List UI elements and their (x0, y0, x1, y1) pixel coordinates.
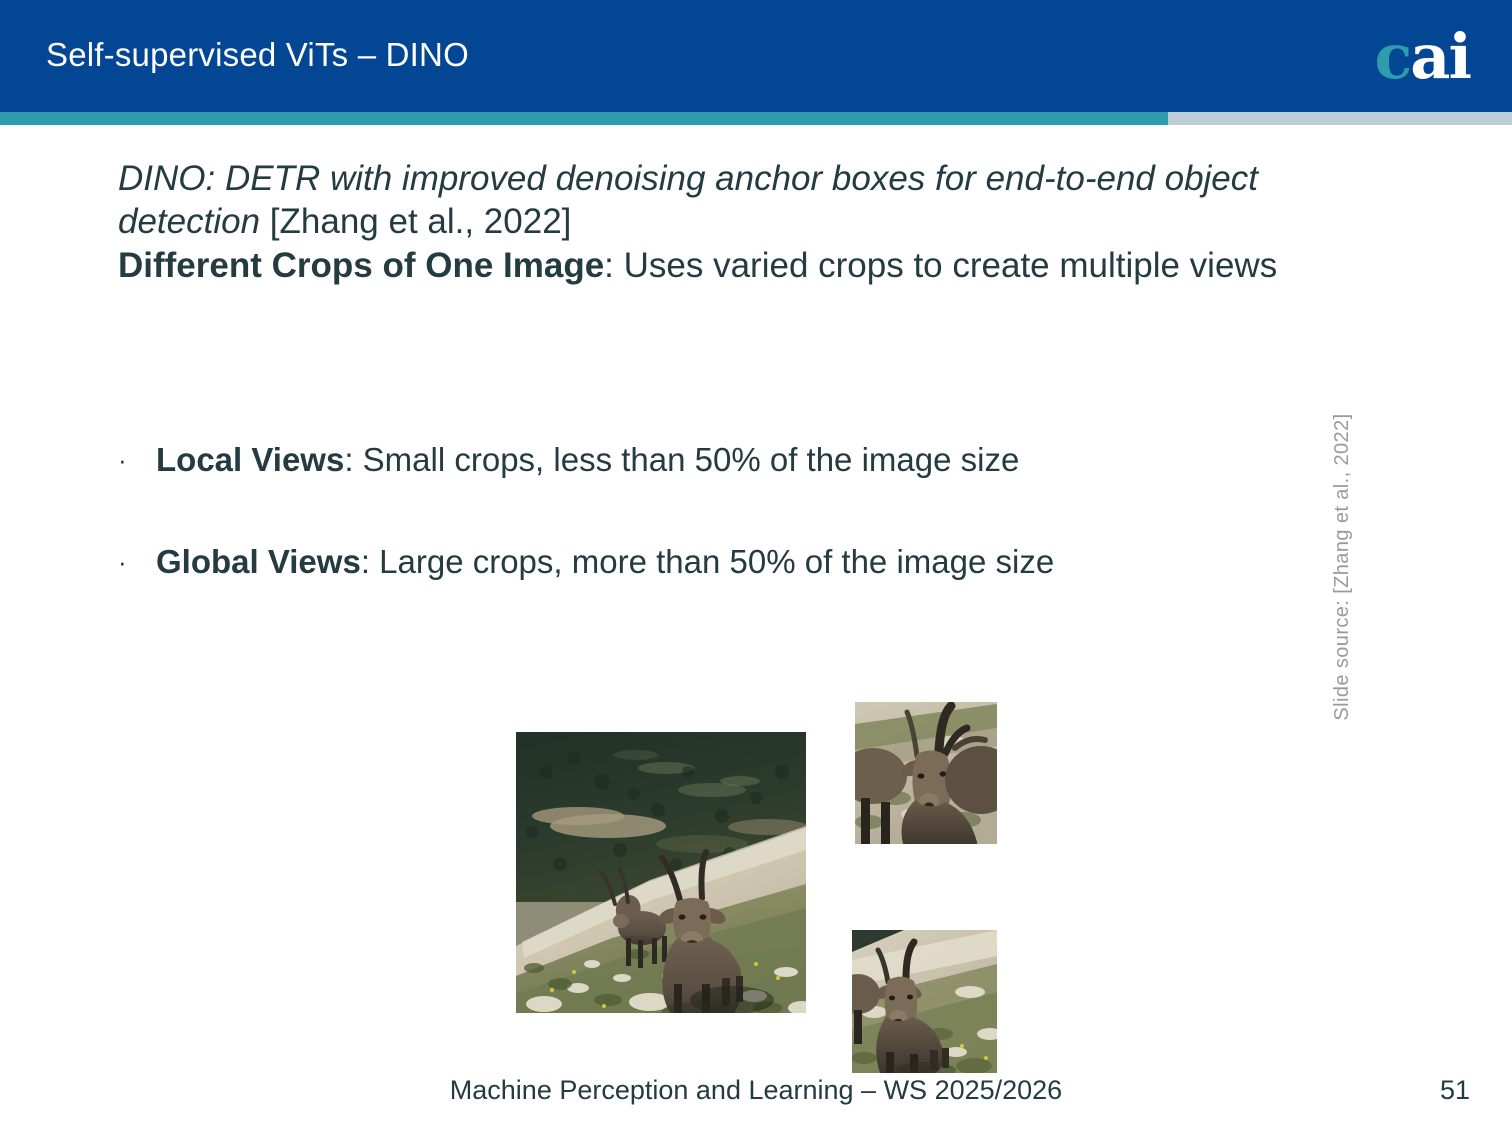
intro-line: Different Crops of One Image: Uses varie… (118, 245, 1378, 288)
local-view-photo-single-graphic (852, 930, 997, 1073)
bullet-marker-icon: · (118, 542, 156, 582)
slide-title: Self-supervised ViTs – DINO (46, 36, 469, 74)
accent-rule-teal (0, 112, 1168, 125)
bullet-text: Local Views: Small crops, less than 50% … (156, 440, 1398, 480)
page-number: 51 (1440, 1075, 1470, 1106)
intro-rest-text: : Uses varied crops to create multiple v… (604, 246, 1277, 285)
intro-bold-label: Different Crops of One Image (118, 246, 604, 285)
local-view-photo-single (852, 930, 997, 1073)
bullet-marker-icon: · (118, 440, 156, 480)
bullet-list: · Local Views: Small crops, less than 50… (118, 440, 1398, 644)
local-view-photo-heads-graphic (855, 702, 997, 844)
slide-body: DINO: DETR with improved denoising ancho… (118, 158, 1378, 288)
local-view-photo-heads (855, 702, 997, 844)
list-item: · Global Views: Large crops, more than 5… (118, 542, 1398, 582)
slide-source-note: Slide source: [Zhang et al., 2022] (1331, 413, 1354, 720)
global-view-photo-graphic (516, 732, 806, 1013)
accent-rule-grey (1168, 112, 1512, 125)
list-item: · Local Views: Small crops, less than 50… (118, 440, 1398, 480)
paper-citation: [Zhang et al., 2022] (260, 202, 571, 241)
cai-logo-letter-c: c (1375, 20, 1411, 93)
global-view-photo (516, 732, 806, 1013)
bullet-label-global-views: Global Views (156, 543, 361, 580)
bullet-body-local-views: : Small crops, less than 50% of the imag… (344, 441, 1019, 478)
cai-logo: cai (1375, 25, 1471, 89)
paper-title-line: DINO: DETR with improved denoising ancho… (118, 158, 1378, 243)
bullet-text: Global Views: Large crops, more than 50%… (156, 542, 1398, 582)
bullet-body-global-views: : Large crops, more than 50% of the imag… (361, 543, 1054, 580)
cai-logo-letters-ai: ai (1410, 20, 1470, 93)
bullet-label-local-views: Local Views (156, 441, 344, 478)
footer-course-label: Machine Perception and Learning – WS 202… (0, 1075, 1512, 1106)
